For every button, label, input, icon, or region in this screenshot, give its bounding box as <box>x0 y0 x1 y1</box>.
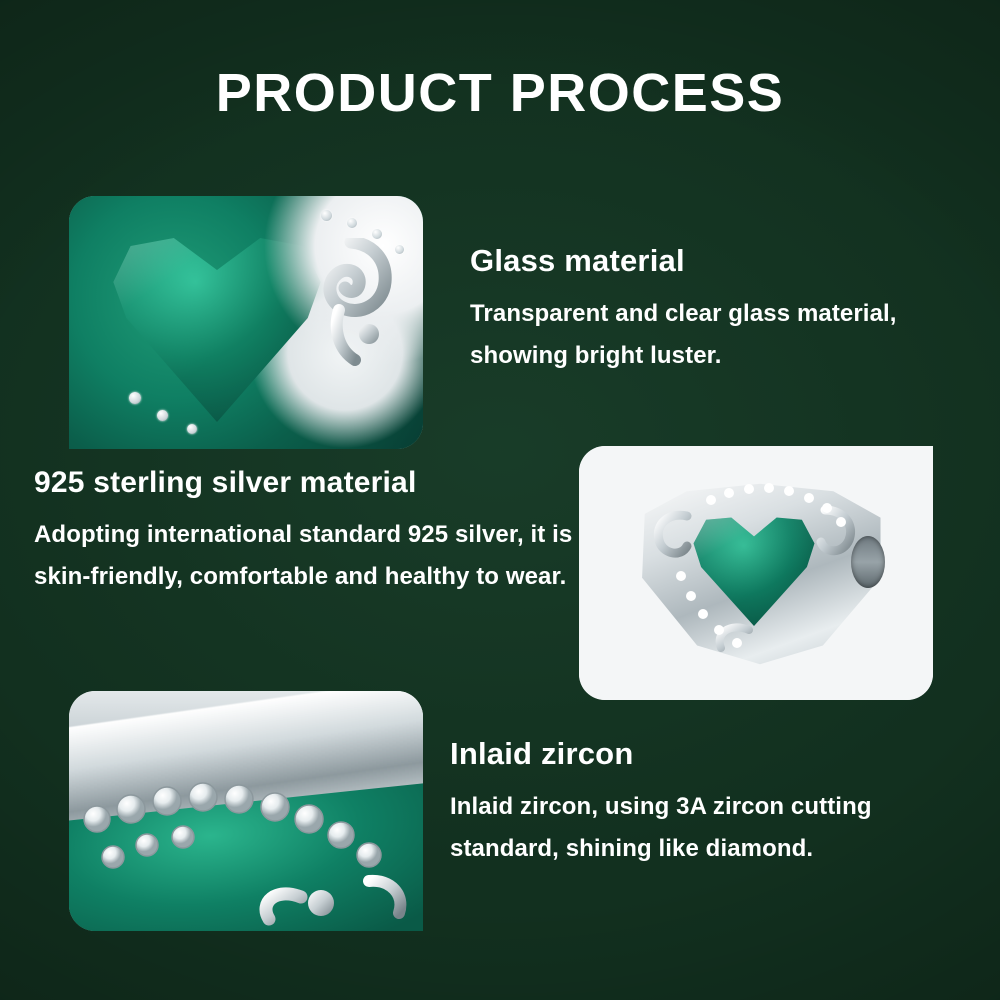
zircon-dot <box>395 245 404 254</box>
text-block-glass-material: Glass material Transparent and clear gla… <box>470 243 970 377</box>
section-body-sterling-silver: Adopting international standard 925 silv… <box>34 514 574 598</box>
text-block-sterling-silver: 925 sterling silver material Adopting in… <box>34 466 574 598</box>
zircon-dot <box>372 229 382 239</box>
zircon-dot <box>129 392 141 404</box>
section-heading-sterling-silver: 925 sterling silver material <box>34 466 574 500</box>
pave-zircon-row-icon <box>69 691 423 931</box>
zircon-dot <box>187 424 197 434</box>
product-process-infographic: PRODUCT PROCESS <box>0 0 1000 1000</box>
zircon-dot <box>347 218 357 228</box>
silver-swirl-ornament-icon <box>299 238 395 368</box>
zircon-dot <box>157 410 168 421</box>
product-image-glass-material <box>69 196 423 449</box>
section-body-glass-material: Transparent and clear glass material, sh… <box>470 293 970 377</box>
product-image-inlaid-zircon <box>69 691 423 931</box>
zircon-dot <box>321 210 332 221</box>
silver-filigree-detail-icon <box>629 480 891 668</box>
page-title: PRODUCT PROCESS <box>0 62 1000 124</box>
product-image-sterling-silver <box>579 446 933 700</box>
section-heading-inlaid-zircon: Inlaid zircon <box>450 736 970 772</box>
text-block-inlaid-zircon: Inlaid zircon Inlaid zircon, using 3A zi… <box>450 736 970 870</box>
heart-charm-bead <box>629 480 891 668</box>
section-body-inlaid-zircon: Inlaid zircon, using 3A zircon cutting s… <box>450 786 970 870</box>
section-heading-glass-material: Glass material <box>470 243 970 279</box>
